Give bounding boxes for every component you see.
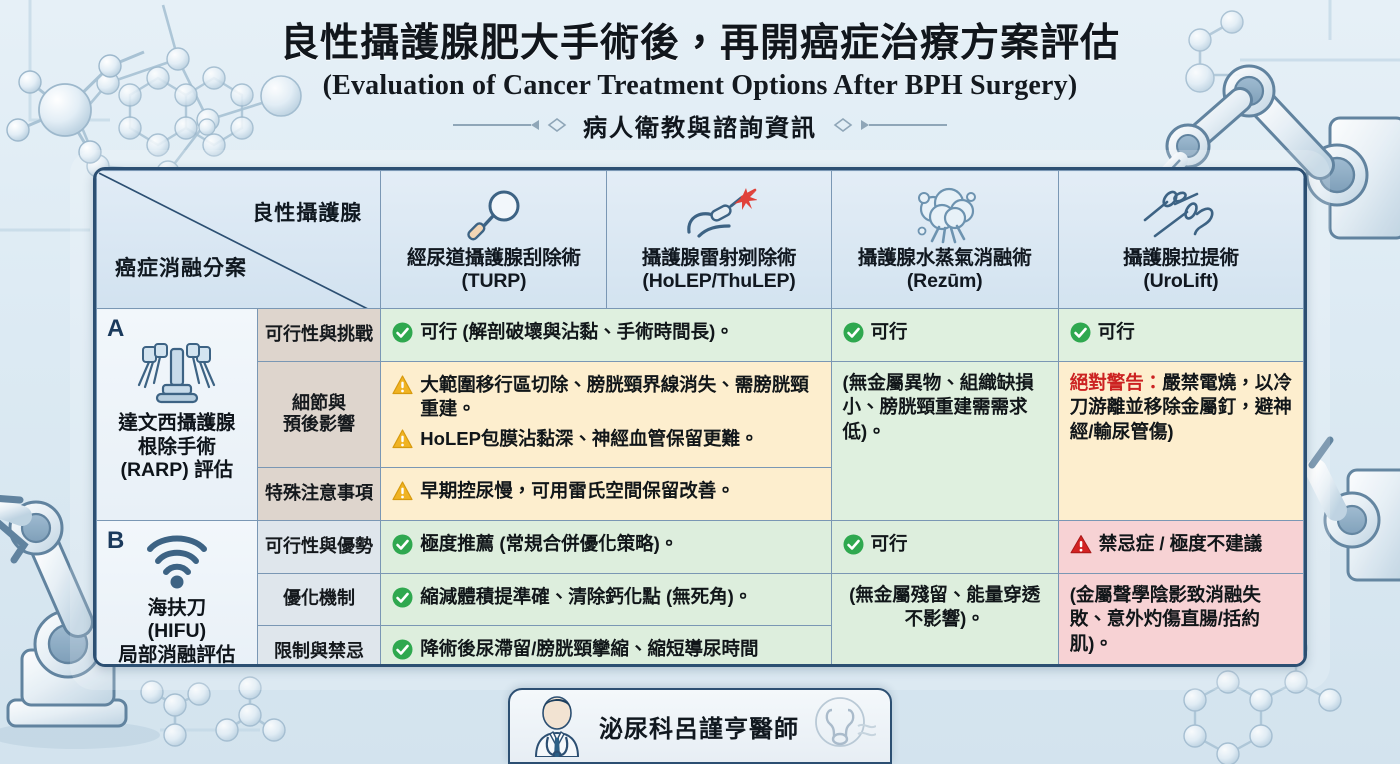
laser-fiber-icon [611, 185, 826, 247]
cell-a-turp-holep-details-text-1: 大範圍移行區切除、膀胱頸界線消失、需膀胱頸重建。 [420, 373, 819, 422]
cell-b-rezum-feasibility-text: 可行 [871, 532, 1047, 557]
row-a-details: 細節與 預後影響 大範圍移行區切除、膀胱頸界線消失、需膀胱頸重建。 [97, 361, 1304, 468]
cell-b-turp-holep-limits: 降術後尿滯留/膀胱頸攣縮、縮短導尿時間 [381, 626, 831, 667]
page-header: 良性攝護腺肥大手術後，再開癌症治療方案評估 (Evaluation of Can… [0, 0, 1400, 160]
ornament-left-icon [453, 118, 573, 132]
check-circle-icon [392, 587, 413, 615]
page-title: 良性攝護腺肥大手術後，再開癌症治療方案評估 [0, 22, 1400, 66]
row-b-aspect-mechanism: 優化機制 [257, 573, 381, 626]
column-header-urolift-label-en: (UroLift) [1063, 270, 1299, 293]
row-a-aspect-details: 細節與 預後影響 [257, 361, 381, 468]
urology-kidney-logo-icon [812, 696, 876, 757]
steam-vapor-icon [836, 185, 1054, 247]
row-letter-a: A [107, 315, 124, 343]
cell-b-urolift-feasibility-text: 禁忌症 / 極度不建議 [1099, 532, 1292, 557]
cell-a-urolift-warning-label: 絕對警告： [1070, 372, 1163, 393]
cell-b-turp-holep-feasibility: 極度推薦 (常規合併優化策略)。 [381, 520, 831, 573]
hifu-waves-icon [103, 529, 251, 595]
doctor-avatar-icon [528, 691, 586, 762]
cell-a-rezum-feasibility-text: 可行 [871, 320, 1047, 345]
page-subtitle-tag: 病人衛教與諮詢資訊 [583, 108, 817, 143]
check-circle-icon [392, 639, 413, 667]
warning-amber-icon [392, 375, 413, 403]
warning-amber-icon [392, 481, 413, 509]
check-circle-icon [392, 534, 413, 562]
cell-b-urolift-details: (金屬聲學陰影致消融失敗、意外灼傷直腸/括約肌)。 [1058, 573, 1303, 667]
cell-a-rezum-details-text: (無金屬異物、組織缺損小、膀胱頸重建需需求低)。 [843, 372, 1034, 442]
cell-a-urolift-feasibility: 可行 [1058, 309, 1303, 362]
cell-a-turp-holep-feasibility-text: 可行 (解剖破壞與沾黏、手術時間長)。 [420, 320, 819, 345]
row-a-aspect-feasibility: 可行性與挑戰 [257, 309, 381, 362]
cell-a-urolift-feasibility-text: 可行 [1098, 320, 1292, 345]
row-letter-b: B [107, 527, 124, 555]
row-label-rarp-text: 達文西攝護腺 根除手術 (RARP) 評估 [103, 412, 251, 483]
corner-diagonal-divider [97, 171, 380, 309]
cell-b-turp-holep-feasibility-text: 極度推薦 (常規合併優化策略)。 [420, 532, 819, 557]
check-circle-icon [843, 322, 864, 350]
cell-a-urolift-details: 絕對警告：嚴禁電燒，以冷刀游離並移除金屬釘，避神經/輸尿管傷) [1058, 361, 1303, 520]
cell-a-turp-holep-notes-text: 早期控尿慢，可用雷氏空間保留改善。 [420, 479, 819, 504]
check-circle-icon [392, 322, 413, 350]
column-header-rezum[interactable]: 攝護腺水蒸氣消融術 (Rezūm) [831, 171, 1058, 309]
check-circle-icon [843, 534, 864, 562]
cell-a-turp-holep-details: 大範圍移行區切除、膀胱頸界線消失、需膀胱頸重建。 HoLEP包膜沾黏深、神經血管… [381, 361, 831, 468]
column-header-holep-label-en: (HoLEP/ThuLEP) [611, 270, 826, 293]
cell-a-turp-holep-details-text-2: HoLEP包膜沾黏深、神經血管保留更難。 [420, 427, 819, 452]
cell-b-urolift-details-text: (金屬聲學陰影致消融失敗、意外灼傷直腸/括約肌)。 [1070, 584, 1261, 654]
doctor-footer-badge[interactable]: 泌尿科呂謹亨醫師 [508, 688, 892, 764]
cell-b-turp-holep-limits-text: 降術後尿滯留/膀胱頸攣縮、縮短導尿時間 [420, 637, 819, 662]
table-header-row: 良性攝護腺 癌症消融分案 經尿道攝護腺刮除術 (TURP) [97, 171, 1304, 309]
page-subtitle-english: (Evaluation of Cancer Treatment Options … [0, 70, 1400, 102]
cell-b-rezum-details-text: (無金屬殘留、能量穿透不影響)。 [849, 584, 1040, 630]
comparison-table-container: 良性攝護腺 癌症消融分案 經尿道攝護腺刮除術 (TURP) [93, 167, 1307, 667]
row-label-rarp[interactable]: A [97, 309, 258, 521]
column-header-turp-label-en: (TURP) [385, 270, 602, 293]
column-header-rezum-label-en: (Rezūm) [836, 270, 1054, 293]
row-label-hifu[interactable]: B 海扶刀 (HIFU) 局部消融評估 [97, 520, 258, 667]
row-a-aspect-notes: 特殊注意事項 [257, 468, 381, 521]
warning-triangle-red-icon [1070, 534, 1092, 562]
row-b-mechanism: 優化機制 縮減體積提準確、清除鈣化點 (無死角)。 (無金屬殘留、能量穿透不影響… [97, 573, 1304, 626]
column-header-turp-label-zh: 經尿道攝護腺刮除術 [385, 247, 602, 270]
column-header-urolift-label-zh: 攝護腺拉提術 [1063, 247, 1299, 270]
row-b-aspect-limits: 限制與禁忌 [257, 626, 381, 667]
column-header-holep-label-zh: 攝護腺雷射剜除術 [611, 247, 826, 270]
check-circle-icon [1070, 322, 1091, 350]
cell-b-turp-holep-mechanism-text: 縮減體積提準確、清除鈣化點 (無死角)。 [420, 585, 819, 610]
row-label-hifu-text: 海扶刀 (HIFU) 局部消融評估 [103, 597, 251, 667]
cell-b-rezum-feasibility: 可行 [831, 520, 1058, 573]
subtitle-ornament-row: 病人衛教與諮詢資訊 [0, 108, 1400, 143]
row-b-aspect-feasibility: 可行性與優勢 [257, 520, 381, 573]
row-a-feasibility: A [97, 309, 1304, 362]
comparison-table: 良性攝護腺 癌症消融分案 經尿道攝護腺刮除術 (TURP) [96, 170, 1304, 667]
column-header-urolift[interactable]: 攝護腺拉提術 (UroLift) [1058, 171, 1303, 309]
corner-row-axis-label: 癌症消融分案 [115, 252, 247, 282]
implant-clips-icon [1063, 185, 1299, 247]
row-b-feasibility: B 海扶刀 (HIFU) 局部消融評估 可行性與優勢 [97, 520, 1304, 573]
cell-b-urolift-feasibility: 禁忌症 / 極度不建議 [1058, 520, 1303, 573]
cell-a-rezum-feasibility: 可行 [831, 309, 1058, 362]
cell-a-turp-holep-notes: 早期控尿慢，可用雷氏空間保留改善。 [381, 468, 831, 521]
cell-b-turp-holep-mechanism: 縮減體積提準確、清除鈣化點 (無死角)。 [381, 573, 831, 626]
resectoscope-loop-icon [385, 185, 602, 247]
corner-column-axis-label: 良性攝護腺 [252, 197, 362, 227]
warning-amber-icon [392, 429, 413, 457]
cell-a-turp-holep-feasibility: 可行 (解剖破壞與沾黏、手術時間長)。 [381, 309, 831, 362]
cell-b-rezum-details: (無金屬殘留、能量穿透不影響)。 [831, 573, 1058, 667]
ornament-right-icon [827, 118, 947, 132]
corner-header-cell: 良性攝護腺 癌症消融分案 [97, 171, 381, 309]
davinci-robot-icon [103, 344, 251, 410]
column-header-rezum-label-zh: 攝護腺水蒸氣消融術 [836, 247, 1054, 270]
column-header-turp[interactable]: 經尿道攝護腺刮除術 (TURP) [381, 171, 607, 309]
doctor-name: 泌尿科呂謹亨醫師 [596, 709, 802, 744]
column-header-holep[interactable]: 攝護腺雷射剜除術 (HoLEP/ThuLEP) [607, 171, 831, 309]
cell-a-rezum-details: (無金屬異物、組織缺損小、膀胱頸重建需需求低)。 [831, 361, 1058, 520]
